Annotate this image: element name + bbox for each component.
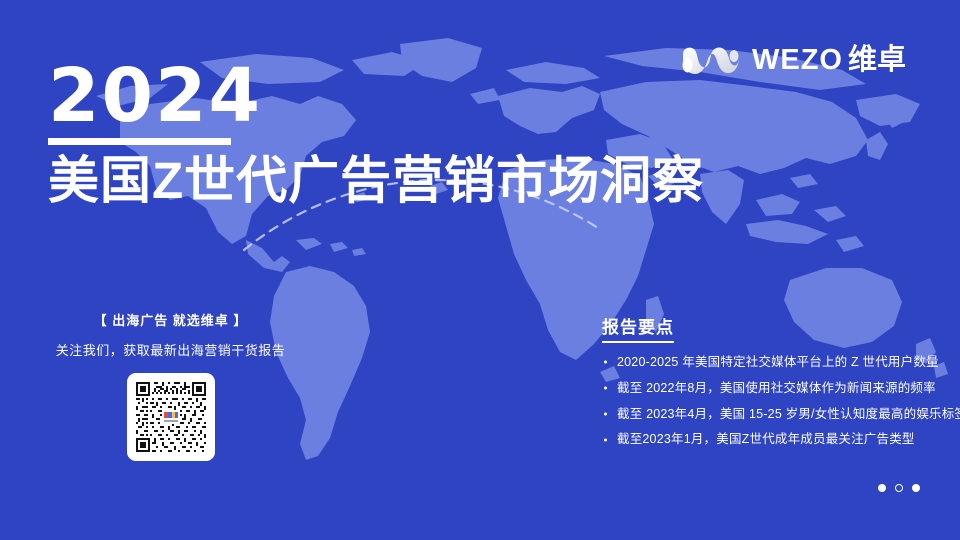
year-label: 2024	[48, 66, 704, 127]
logo-word-cn: 维卓	[848, 44, 906, 76]
page-title: 美国Z世代广告营销市场洞察	[48, 153, 704, 209]
bullet-dot-icon	[604, 387, 607, 390]
qr-code-image	[134, 380, 208, 454]
report-highlights-underline	[602, 341, 674, 343]
list-item: 2020-2025 年美国特定社交媒体平台上的 Z 世代用户数量	[602, 353, 960, 372]
brand-logo[interactable]: WEZO维卓	[680, 43, 906, 77]
report-highlights-heading: 报告要点	[602, 313, 674, 338]
bullet-dot-icon	[604, 361, 607, 364]
list-item-text: 截至 2023年4月，美国 15-25 岁男/女性认知度最高的娱乐标签	[617, 407, 960, 421]
list-item-text: 截至 2022年8月，美国使用社交媒体作为新闻来源的频率	[617, 381, 936, 395]
list-item-text: 2020-2025 年美国特定社交媒体平台上的 Z 世代用户数量	[617, 355, 939, 369]
qr-code[interactable]	[127, 373, 215, 461]
list-item: 截至 2023年4月，美国 15-25 岁男/女性认知度最高的娱乐标签	[602, 405, 960, 424]
list-item: 截至2023年1月，美国Z世代成年成员最关注广告类型	[602, 430, 960, 449]
follow-us-block: 【 出海广告 就选维卓 】 关注我们，获取最新出海营销干货报告	[48, 312, 293, 461]
logo-wordmark: WEZO维卓	[752, 46, 906, 75]
report-highlights-list: 2020-2025 年美国特定社交媒体平台上的 Z 世代用户数量 截至 2022…	[602, 353, 960, 449]
slide-root: WEZO维卓 2024 美国Z世代广告营销市场洞察 【 出海广告 就选维卓 】 …	[0, 0, 960, 540]
list-item: 截至 2022年8月，美国使用社交媒体作为新闻来源的频率	[602, 379, 960, 398]
pager-dot-2[interactable]	[895, 484, 903, 492]
list-item-text: 截至2023年1月，美国Z世代成年成员最关注广告类型	[617, 432, 915, 446]
bullet-dot-icon	[604, 438, 607, 441]
bullet-dot-icon	[604, 412, 607, 415]
headline-block: 2024 美国Z世代广告营销市场洞察	[48, 66, 704, 209]
pager-dot-3[interactable]	[912, 484, 920, 492]
brand-slogan: 【 出海广告 就选维卓 】	[48, 312, 293, 330]
pager-dot-1[interactable]	[878, 484, 886, 492]
follow-subtitle: 关注我们，获取最新出海营销干货报告	[48, 340, 293, 359]
report-highlights-block: 报告要点 2020-2025 年美国特定社交媒体平台上的 Z 世代用户数量 截至…	[602, 313, 960, 456]
slide-pager[interactable]	[878, 484, 920, 492]
logo-word-en: WEZO	[752, 44, 843, 76]
